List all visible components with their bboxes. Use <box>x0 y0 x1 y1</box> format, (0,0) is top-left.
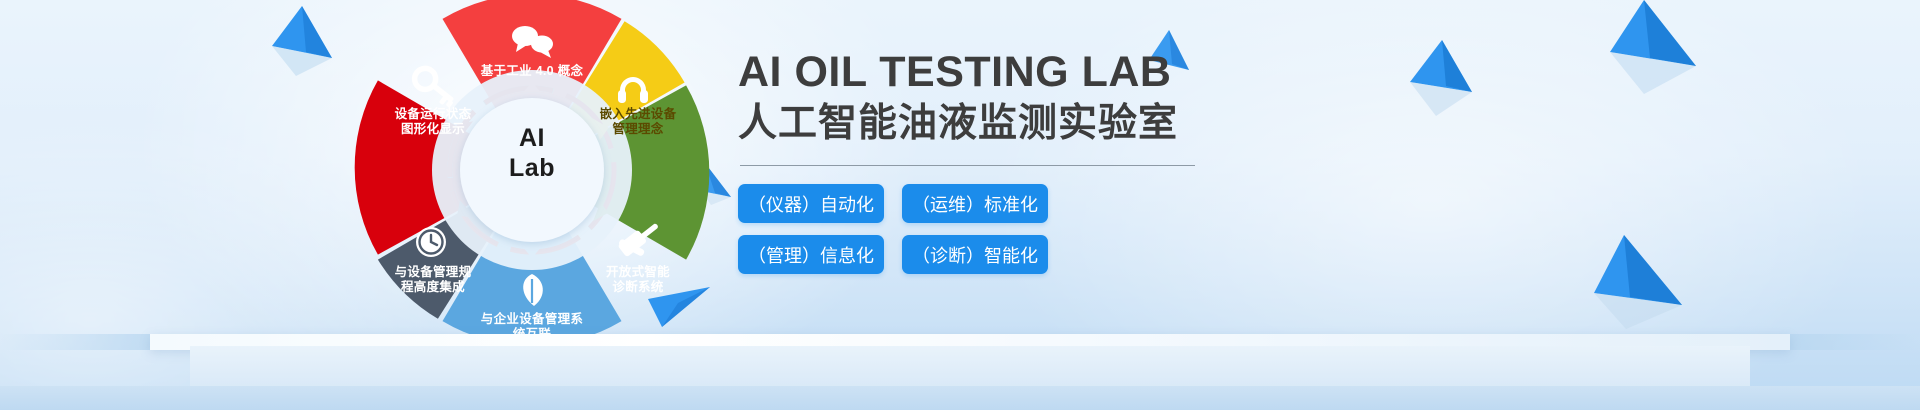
feature-pill-instrument-automation[interactable]: （仪器）自动化 <box>738 184 884 223</box>
feature-pill-group: （仪器）自动化 （运维）标准化 （管理）信息化 （诊断）智能化 <box>738 184 1218 274</box>
banner-title-english: AI OIL TESTING LAB <box>738 48 1498 97</box>
feature-pill-management-informatization[interactable]: （管理）信息化 <box>738 235 884 274</box>
pedestal-shadow-left <box>0 334 152 350</box>
decorative-triangle-top-left <box>272 6 336 78</box>
decorative-triangle-far-right <box>1610 0 1700 96</box>
pedestal-front-face <box>190 346 1750 388</box>
wheel-segment-label-management: 嵌入先进设备 管理理念 <box>590 107 686 137</box>
wheel-segment-label-integration: 与设备管理规 程高度集成 <box>374 265 492 295</box>
pedestal-base-strip <box>0 386 1920 410</box>
wheel-segment-label-interconnect: 与企业设备管理系 统互联 <box>450 312 614 342</box>
wheel-segment-label-concept: 基于工业 4.0 概念 <box>462 64 602 79</box>
feature-pill-diagnosis-intelligence[interactable]: （诊断）智能化 <box>902 235 1048 274</box>
feature-pill-operations-standardization[interactable]: （运维）标准化 <box>902 184 1048 223</box>
ai-lab-wheel-infographic: 基于工业 4.0 概念 嵌入先进设备 管理理念 开放式智能 诊断系统 与企业设备… <box>352 0 712 350</box>
banner-title-chinese: 人工智能油液监测实验室 <box>738 99 1498 149</box>
wheel-segment-label-diagnosis: 开放式智能 诊断系统 <box>592 265 684 295</box>
pedestal-platform <box>0 292 1920 410</box>
feature-pill-row-1: （仪器）自动化 （运维）标准化 <box>738 184 1218 223</box>
decorative-triangle-bottom-right <box>1594 235 1686 331</box>
hero-banner: 基于工业 4.0 概念 嵌入先进设备 管理理念 开放式智能 诊断系统 与企业设备… <box>0 0 1920 410</box>
wheel-segment-label-visualization: 设备运行状态 图形化显示 <box>374 107 492 137</box>
title-divider <box>740 165 1195 166</box>
key-icon <box>410 64 460 110</box>
wheel-hub-label: AI Lab <box>482 123 582 183</box>
feature-pill-row-2: （管理）信息化 （诊断）智能化 <box>738 235 1218 274</box>
clock-icon <box>416 227 446 257</box>
pedestal-shadow-right <box>1788 334 1920 350</box>
banner-copy-block: AI OIL TESTING LAB 人工智能油液监测实验室 （仪器）自动化 （… <box>738 48 1498 286</box>
